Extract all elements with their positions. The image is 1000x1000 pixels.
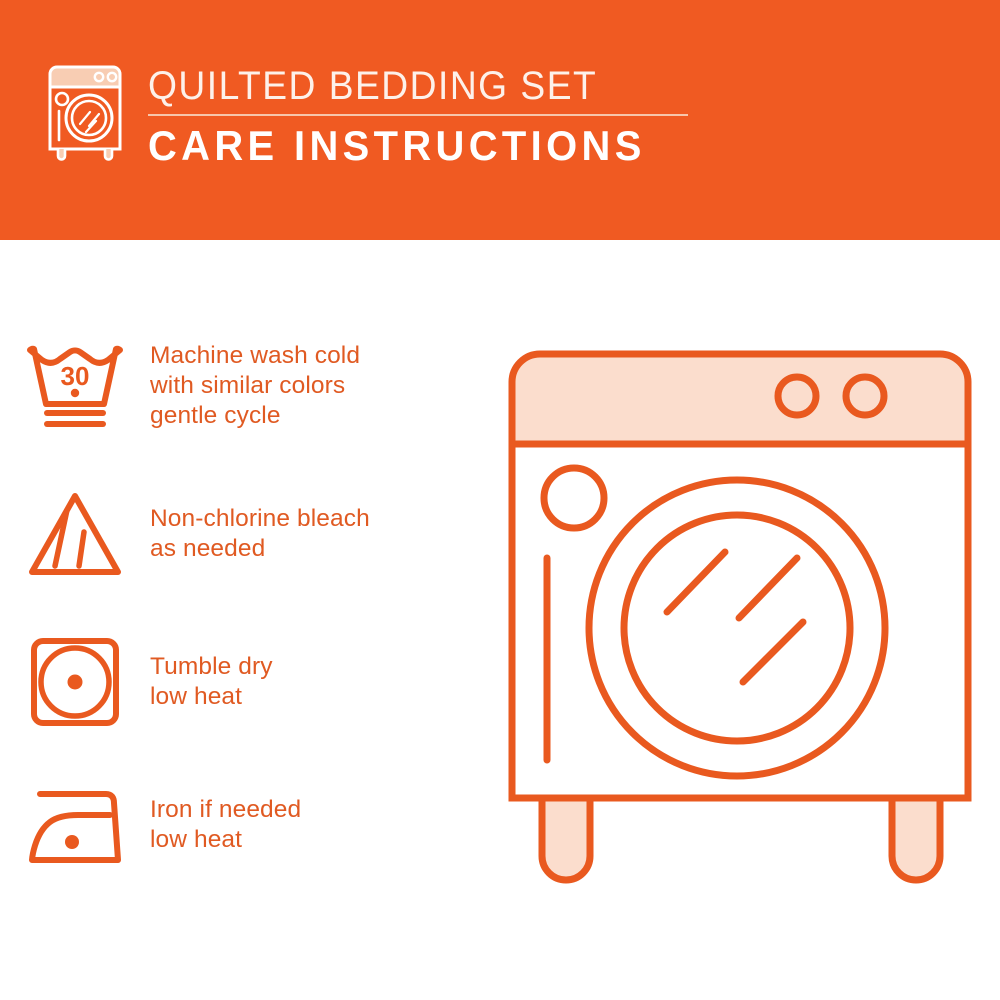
care-text-line: low heat xyxy=(150,825,480,855)
care-instructions-infographic: QUILTED BEDDING SET CARE INSTRUCTIONS 30 xyxy=(0,0,1000,1000)
care-instructions-list: 30 Machine wash cold with similar colors… xyxy=(0,240,480,1000)
tumble-dry-icon xyxy=(27,634,123,730)
care-text-line: Tumble dry xyxy=(150,652,480,682)
leg-left xyxy=(542,798,590,880)
care-text-line: Non-chlorine bleach xyxy=(150,504,480,534)
care-symbol-slot xyxy=(0,488,150,580)
care-text-line: with similar colors xyxy=(150,371,480,401)
care-symbol-slot xyxy=(0,782,150,868)
care-text-bleach: Non-chlorine bleach as needed xyxy=(150,504,480,564)
title-divider xyxy=(148,114,688,116)
bleach-triangle-icon xyxy=(24,488,126,580)
care-symbol-slot: 30 xyxy=(0,340,150,432)
care-symbol-slot xyxy=(0,634,150,730)
control-panel xyxy=(512,354,968,444)
care-text-line: Iron if needed xyxy=(150,795,480,825)
page-subtitle: CARE INSTRUCTIONS xyxy=(148,123,661,169)
care-row-tumble-dry: Tumble dry low heat xyxy=(0,634,480,730)
care-row-bleach: Non-chlorine bleach as needed xyxy=(0,488,480,580)
header-content: QUILTED BEDDING SET CARE INSTRUCTIONS xyxy=(44,62,688,169)
care-text-line: gentle cycle xyxy=(150,401,480,431)
care-text-line: as needed xyxy=(150,534,480,564)
page-title: QUILTED BEDDING SET xyxy=(148,64,650,108)
iron-icon xyxy=(20,782,130,868)
header-band: QUILTED BEDDING SET CARE INSTRUCTIONS xyxy=(0,0,1000,240)
header-titles: QUILTED BEDDING SET CARE INSTRUCTIONS xyxy=(148,62,688,169)
care-text-line: Machine wash cold xyxy=(150,341,480,371)
washing-machine-icon xyxy=(44,62,126,162)
wash-temperature-label: 30 xyxy=(61,361,90,391)
care-text-tumble-dry: Tumble dry low heat xyxy=(150,652,480,712)
washing-machine-illustration xyxy=(490,330,990,940)
care-row-iron: Iron if needed low heat xyxy=(0,782,480,868)
wash-tub-icon: 30 xyxy=(22,340,128,432)
care-row-machine-wash: 30 Machine wash cold with similar colors… xyxy=(0,340,480,432)
care-text-machine-wash: Machine wash cold with similar colors ge… xyxy=(150,341,480,431)
care-text-line: low heat xyxy=(150,682,480,712)
care-text-iron: Iron if needed low heat xyxy=(150,795,480,855)
leg-right xyxy=(892,798,940,880)
